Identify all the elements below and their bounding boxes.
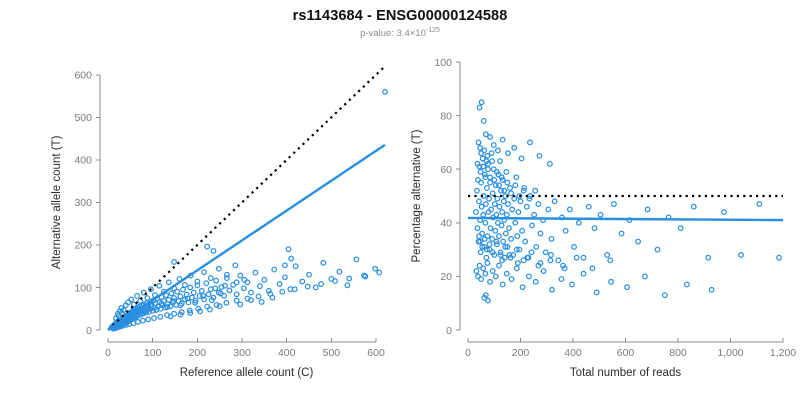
data-point [135,294,140,299]
panel-left: 01002003004005006000100200300400500600Re… [51,66,387,379]
data-point [492,178,497,183]
data-point [474,210,479,215]
data-point [521,258,526,263]
scatter-plot-svg: 01002003004005006000100200300400500600Re… [0,0,800,400]
data-point [205,244,210,249]
data-point [477,234,482,239]
fit-line [108,145,385,330]
data-point [488,226,493,231]
data-point [204,281,209,286]
pvalue-text: p-value: 3.4×10 [360,28,426,39]
data-point [549,253,554,258]
x-tick-label: 600 [617,347,635,359]
data-point [777,255,782,260]
data-point [543,250,548,255]
data-point [678,226,683,231]
data-point [481,266,486,271]
data-point [645,207,650,212]
data-point [541,269,546,274]
data-point [138,299,143,304]
data-point [691,204,696,209]
data-point [313,285,318,290]
data-point [498,159,503,164]
data-point [527,274,532,279]
data-point [528,140,533,145]
data-point [505,212,510,217]
data-point [488,279,493,284]
data-point [757,202,762,207]
data-point [478,250,483,255]
data-point [505,271,510,276]
data-point [234,298,239,303]
data-point [283,263,288,268]
data-point [501,239,506,244]
data-point [608,258,613,263]
data-point [510,207,515,212]
data-point [491,143,496,148]
x-tick-label: 200 [512,347,530,359]
data-point [509,237,514,242]
data-point [534,245,539,250]
x-tick-label: 0 [465,347,471,359]
data-point [208,287,213,292]
x-tick-label: 0 [105,347,111,359]
data-point [208,276,213,281]
data-point [643,274,648,279]
data-point [548,162,553,167]
data-point [483,221,488,226]
data-point [249,290,254,295]
x-tick-label: 1,200 [770,347,796,359]
data-point [516,210,521,215]
data-point [157,283,162,288]
data-point [709,288,714,293]
y-tick-label: 100 [434,57,452,69]
x-tick-label: 500 [323,347,341,359]
x-tick-label: 300 [233,347,251,359]
data-point [739,253,744,258]
data-point [532,212,537,217]
data-point [568,207,573,212]
data-point [549,237,554,242]
data-point [383,89,388,94]
data-point [233,263,238,268]
data-point [272,267,277,272]
data-point [552,199,557,204]
data-point [280,289,285,294]
y-tick-label: 0 [446,325,452,337]
data-point [530,223,535,228]
data-point [533,188,538,193]
data-point [485,186,490,191]
data-point [136,320,141,325]
data-point [533,279,538,284]
pvalue-exponent: -125 [426,27,440,34]
data-point [598,212,603,217]
page-title: rs1143684 - ENSG00000124588 [0,8,800,24]
x-tick-label: 400 [278,347,296,359]
data-point [509,191,514,196]
data-point [536,202,541,207]
data-point [685,282,690,287]
data-point [270,295,275,300]
data-point [478,170,483,175]
data-point [515,266,520,271]
data-point [594,290,599,295]
data-point [516,261,521,266]
data-point [546,207,551,212]
data-point [307,272,312,277]
data-point [663,293,668,298]
data-point [484,255,489,260]
data-point [475,188,480,193]
y-tick-label: 400 [74,155,92,167]
data-point [238,273,243,278]
data-point [206,292,211,297]
data-point [253,270,258,275]
data-point [506,202,511,207]
data-point [563,229,568,234]
data-point [283,275,288,280]
data-point [482,148,487,153]
data-point [625,285,630,290]
data-point [181,287,186,292]
x-tick-label: 100 [144,347,162,359]
data-point [513,221,518,226]
data-point [497,183,502,188]
data-point [512,145,517,150]
data-point [581,255,586,260]
data-point [337,269,342,274]
data-point [474,269,479,274]
data-point [347,276,352,281]
data-point [525,204,530,209]
data-point [488,135,493,140]
data-point [484,202,489,207]
data-point [497,263,502,268]
data-point [493,229,498,234]
data-point [202,270,207,275]
data-point [507,226,512,231]
data-point [234,292,239,297]
data-point [200,289,205,294]
data-point [213,286,218,291]
y-tick-label: 100 [74,282,92,294]
data-point [492,202,497,207]
data-point [590,266,595,271]
y-tick-label: 60 [440,164,452,176]
data-point [572,245,577,250]
data-point [508,186,513,191]
data-point [548,258,553,263]
data-point [178,294,183,299]
data-point [477,105,482,110]
data-point [537,154,542,159]
data-point [475,226,480,231]
data-point [214,278,219,283]
data-point [289,256,294,261]
data-point [258,284,263,289]
data-point [227,288,232,293]
data-point [612,202,617,207]
data-point [506,151,511,156]
data-point [191,290,196,295]
data-point [509,277,514,282]
data-point [188,285,193,290]
data-point [529,250,534,255]
data-point [169,291,174,296]
data-point [242,286,247,291]
data-point [485,261,490,266]
data-point [505,180,510,185]
x-tick-label: 600 [367,347,385,359]
pvalue-annotation: p-value: 3.4×10-125 [0,27,800,39]
y-tick-label: 20 [440,271,452,283]
data-point [609,279,614,284]
data-point [636,239,641,244]
data-point [500,137,505,142]
data-point [259,300,264,305]
data-point [520,229,525,234]
data-point [481,119,486,124]
data-point [523,239,528,244]
data-point [486,167,491,172]
data-point [605,253,610,258]
data-point [479,100,484,105]
data-point [277,282,282,287]
data-point [592,226,597,231]
y-tick-label: 200 [74,240,92,252]
data-point [559,277,564,282]
data-point [576,221,581,226]
data-point [586,204,591,209]
data-point [483,271,488,276]
y-axis-title: Alternative allele count (T) [51,135,63,269]
data-point [152,316,157,321]
y-tick-label: 300 [74,197,92,209]
panel-right: 02040608010002004006008001,0001,200Total… [411,57,796,379]
data-point [262,278,267,283]
data-point [158,315,163,320]
data-point [494,212,499,217]
data-point [145,296,150,301]
data-point [556,258,561,263]
y-tick-label: 80 [440,110,452,122]
title-block: rs1143684 - ENSG00000124588 p-value: 3.4… [0,0,800,39]
data-point [211,249,216,254]
data-point [256,294,261,299]
data-point [238,302,243,307]
data-point [293,264,298,269]
data-point [502,188,507,193]
data-point [504,231,509,236]
x-tick-label: 200 [189,347,207,359]
x-tick-label: 400 [564,347,582,359]
data-point [373,266,378,271]
data-point [581,271,586,276]
data-point [217,266,222,271]
data-point [514,175,519,180]
data-point [496,148,501,153]
data-point [242,278,247,283]
data-point [172,260,177,265]
x-tick-label: 800 [669,347,687,359]
data-point [722,210,727,215]
y-tick-label: 600 [74,70,92,82]
data-point [504,170,509,175]
data-point [497,234,502,239]
data-point [234,280,239,285]
data-point [319,282,324,287]
data-point [354,257,359,262]
data-point [486,298,491,303]
y-tick-label: 0 [86,325,92,337]
data-point [706,255,711,260]
data-point [519,156,524,161]
data-point [481,212,486,217]
data-points [109,89,387,331]
data-point [321,260,326,265]
x-tick-label: 1,000 [717,347,743,359]
data-point [485,154,490,159]
data-point [520,285,525,290]
data-point [570,282,575,287]
y-tick-label: 40 [440,218,452,230]
x-axis-title: Total number of reads [570,367,681,379]
data-point [208,307,213,312]
data-point [550,288,555,293]
data-point [141,318,146,323]
data-point [494,274,499,279]
data-point [490,159,495,164]
data-point [490,269,495,274]
data-point [166,280,171,285]
y-axis-title: Percentage alternative (T) [411,129,423,262]
data-point [499,223,504,228]
data-points [474,100,782,303]
data-point [345,283,350,288]
data-point [479,277,484,282]
data-point [477,199,482,204]
data-point [574,255,579,260]
data-point [515,234,520,239]
data-point [286,247,291,252]
data-point [619,231,624,236]
data-point [479,180,484,185]
data-point [500,282,505,287]
data-point [300,279,305,284]
data-point [538,231,543,236]
data-point [497,204,502,209]
data-point [513,183,518,188]
data-point [518,199,523,204]
data-point [146,317,151,322]
data-point [476,140,481,145]
data-point [224,300,229,305]
data-point [500,210,505,215]
data-point [487,242,492,247]
data-point [129,297,134,302]
data-point [183,283,188,288]
fit-line [468,218,783,220]
figure-container: rs1143684 - ENSG00000124588 p-value: 3.4… [0,0,800,400]
data-point [305,284,310,289]
data-point [377,270,382,275]
x-axis-title: Reference allele count (C) [180,367,314,379]
data-point [655,247,660,252]
y-tick-label: 500 [74,112,92,124]
